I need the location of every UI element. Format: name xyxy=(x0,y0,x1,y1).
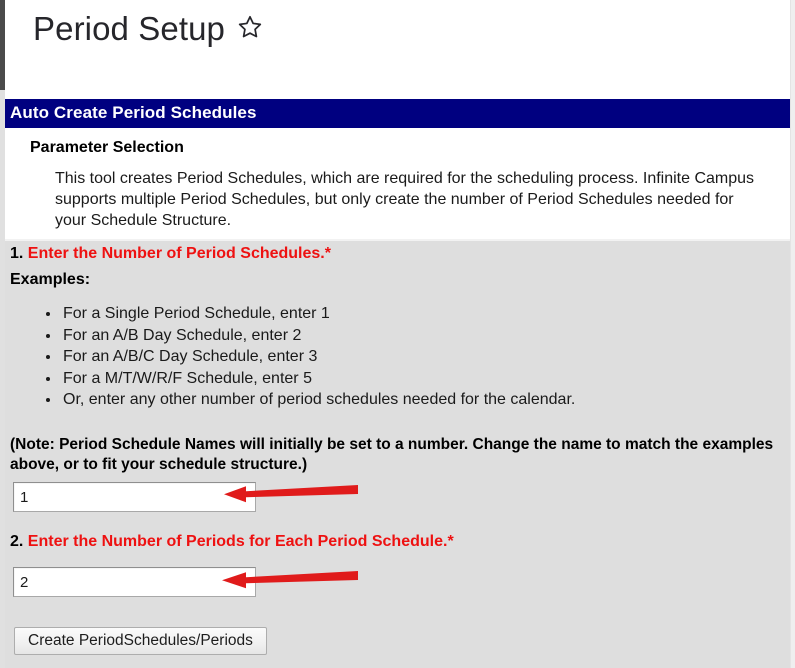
list-item: For a Single Period Schedule, enter 1 xyxy=(61,303,575,325)
number-of-periods-input[interactable] xyxy=(13,567,256,597)
list-item: For a M/T/W/R/F Schedule, enter 5 xyxy=(61,368,575,390)
number-of-period-schedules-input[interactable] xyxy=(13,482,256,512)
step-2-label: 2. Enter the Number of Periods for Each … xyxy=(10,533,454,551)
create-period-schedules-periods-button[interactable]: Create PeriodSchedules/Periods xyxy=(14,627,267,655)
left-edge-rail-lower xyxy=(0,90,5,668)
examples-label: Examples: xyxy=(10,271,90,289)
right-edge-rail xyxy=(790,0,795,668)
parameter-selection-heading: Parameter Selection xyxy=(30,139,184,157)
title-bar: Period Setup xyxy=(5,0,790,90)
step-2-text: Enter the Number of Periods for Each Per… xyxy=(28,533,454,550)
period-schedule-name-note: (Note: Period Schedule Names will initia… xyxy=(10,435,780,475)
step-1-label: 1. Enter the Number of Period Schedules.… xyxy=(10,245,331,263)
step-2-number: 2. xyxy=(10,533,23,550)
page-title: Period Setup xyxy=(33,6,263,54)
parameter-panel: 1. Enter the Number of Period Schedules.… xyxy=(5,239,790,668)
left-edge-rail xyxy=(0,0,5,90)
list-item: For an A/B/C Day Schedule, enter 3 xyxy=(61,346,575,368)
star-outline-icon[interactable] xyxy=(237,6,263,52)
page-title-text: Period Setup xyxy=(33,10,225,47)
page-root: Period Setup Auto Create Period Schedule… xyxy=(0,0,795,668)
step-1-text: Enter the Number of Period Schedules.* xyxy=(28,245,331,262)
examples-list: For a Single Period Schedule, enter 1 Fo… xyxy=(27,303,575,411)
section-header-bar: Auto Create Period Schedules xyxy=(5,99,790,128)
intro-block: Parameter Selection This tool creates Pe… xyxy=(5,128,790,239)
list-item: Or, enter any other number of period sch… xyxy=(61,389,575,411)
list-item: For an A/B Day Schedule, enter 2 xyxy=(61,325,575,347)
section-header-title: Auto Create Period Schedules xyxy=(10,103,257,123)
step-1-number: 1. xyxy=(10,245,23,262)
intro-paragraph: This tool creates Period Schedules, whic… xyxy=(55,168,755,231)
